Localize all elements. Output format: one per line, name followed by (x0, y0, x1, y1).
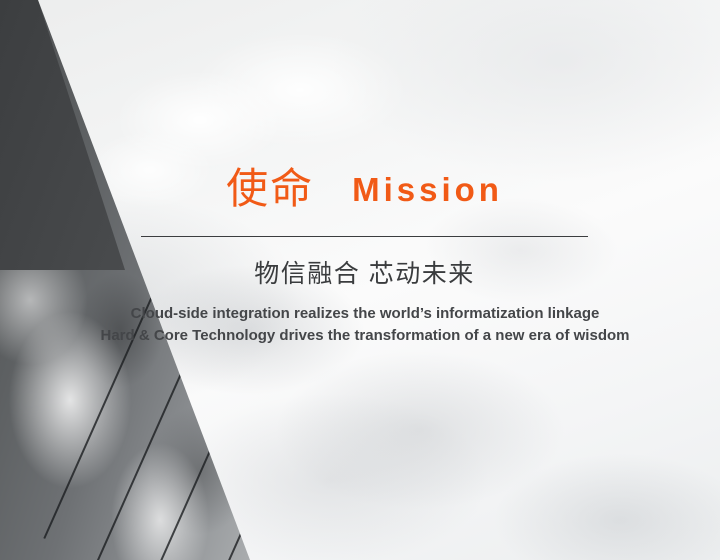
tagline-line-2: Hard & Core Technology drives the transf… (60, 325, 670, 347)
tagline-line-1: Cloud-side integration realizes the worl… (60, 303, 670, 325)
tagline: Cloud-side integration realizes the worl… (60, 303, 670, 347)
heading-chinese: 使命 (226, 168, 314, 210)
subtitle-chinese: 物信融合 芯动未来 (141, 259, 588, 290)
heading: 使命 Mission (141, 168, 588, 210)
banner-content: 使命 Mission 物信融合 芯动未来 Cloud-side integrat… (0, 0, 720, 560)
heading-english: Mission (352, 173, 503, 206)
mission-banner: 使命 Mission 物信融合 芯动未来 Cloud-side integrat… (0, 0, 720, 560)
heading-divider (141, 236, 588, 237)
